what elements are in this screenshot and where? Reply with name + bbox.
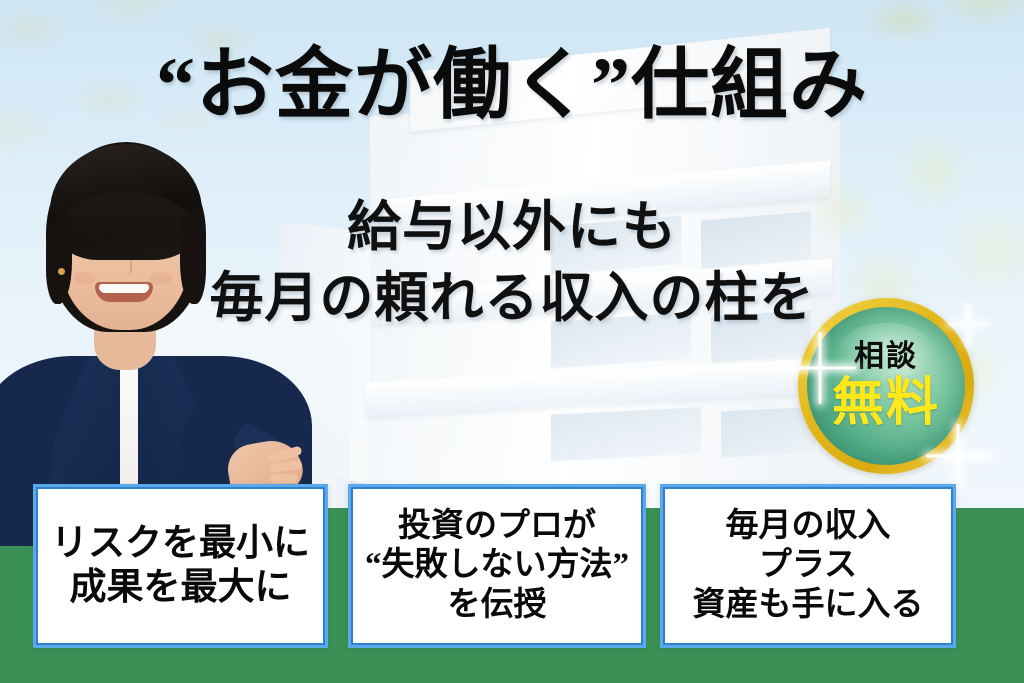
free-consultation-badge[interactable]: 相談 無料 <box>798 298 974 474</box>
feature-line: 毎月の収入 <box>726 507 891 547</box>
feature-box-income-assets[interactable]: 毎月の収入 プラス 資産も手に入る <box>660 484 956 648</box>
sub-headline-line-1: 給与以外にも <box>0 192 1024 263</box>
hand-finger <box>270 474 298 483</box>
advertisement-banner: “お金が働く”仕組み 給与以外にも 毎月の頼れる収入の柱を 相談 無料 リスクを… <box>0 0 1024 683</box>
feature-box-pro-method[interactable]: 投資のプロが “失敗しない方法” を伝授 <box>348 484 646 648</box>
main-headline: “お金が働く”仕組み <box>0 44 1024 125</box>
feature-box-row: リスクを最小に 成果を最大に 投資のプロが “失敗しない方法” を伝授 毎月の収… <box>0 484 1024 648</box>
feature-line: 投資のプロが <box>398 507 596 547</box>
feature-line: 成果を最大に <box>70 566 292 610</box>
feature-line: プラス <box>759 546 857 586</box>
feature-line: 資産も手に入る <box>693 586 924 626</box>
badge-main-label: 無料 <box>832 378 940 430</box>
feature-line: “失敗しない方法” <box>365 546 629 586</box>
feature-box-risk-reward[interactable]: リスクを最小に 成果を最大に <box>33 484 328 648</box>
feature-line: リスクを最小に <box>51 522 310 566</box>
badge-text-group: 相談 無料 <box>807 307 965 465</box>
feature-line: を伝授 <box>448 586 547 626</box>
badge-top-label: 相談 <box>854 342 918 372</box>
